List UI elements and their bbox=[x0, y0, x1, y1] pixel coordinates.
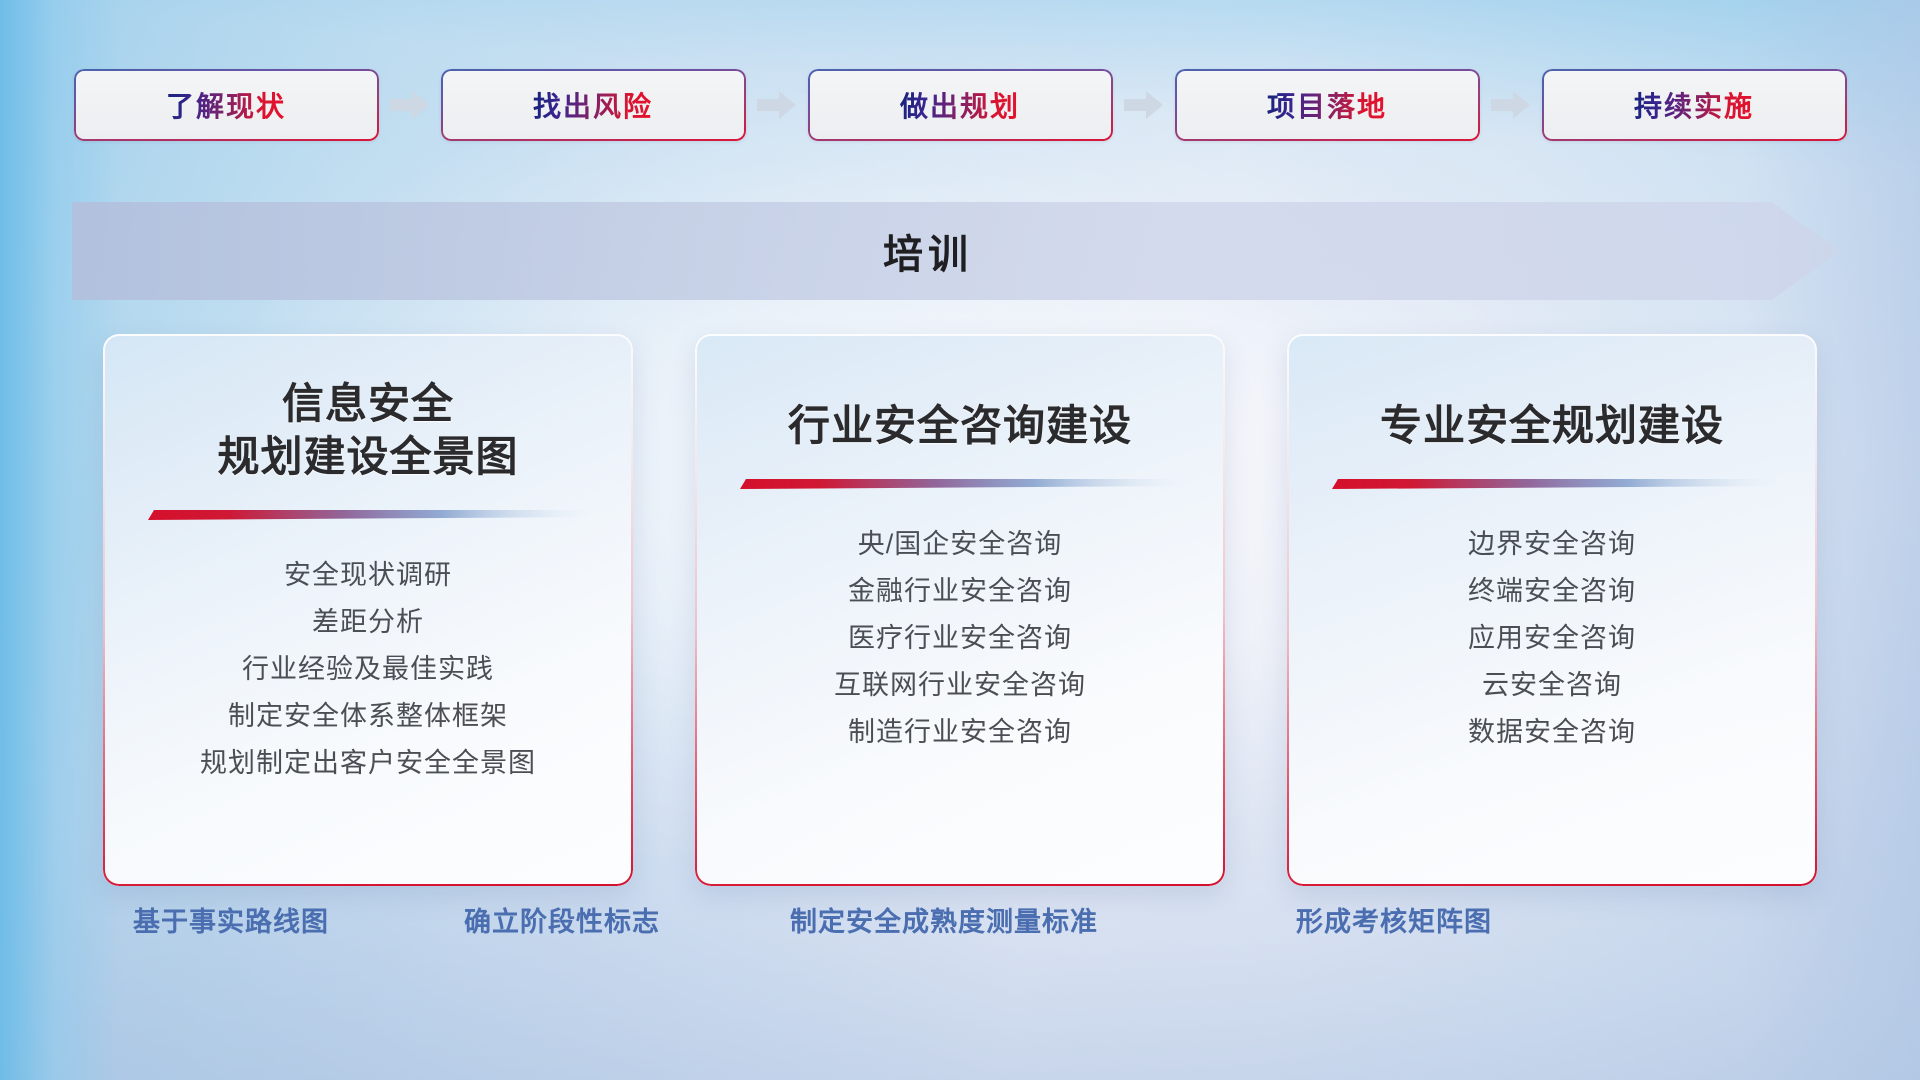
card-2-divider bbox=[734, 475, 1186, 493]
step-label-3: 做出规划 bbox=[900, 85, 1020, 125]
list-item: 互联网行业安全咨询 bbox=[834, 662, 1086, 709]
card-1-divider bbox=[142, 506, 594, 524]
arrow-right-icon bbox=[1113, 69, 1175, 141]
list-item: 制定安全体系整体框架 bbox=[228, 693, 508, 740]
card-1[interactable]: 信息安全 规划建设全景图 安全现状调研 差 bbox=[103, 334, 633, 886]
card-3-title-line-1: 专业安全规划建设 bbox=[1305, 400, 1799, 453]
step-box-4[interactable]: 项目落地 bbox=[1175, 69, 1480, 141]
list-item: 边界安全咨询 bbox=[1468, 521, 1636, 568]
card-1-list: 安全现状调研 差距分析 行业经验及最佳实践 制定安全体系整体框架 规划制定出客户… bbox=[103, 552, 633, 787]
card-1-title-line-1: 信息安全 bbox=[121, 378, 615, 431]
card-2-title: 行业安全咨询建设 bbox=[695, 400, 1225, 453]
process-step-row: 了解现状 找出风险 做出规划 项目落地 持续实施 bbox=[0, 66, 1920, 144]
caption-row: 基于事实路线图 确立阶段性标志 制定安全成熟度测量标准 形成考核矩阵图 bbox=[0, 900, 1920, 970]
step-box-5[interactable]: 持续实施 bbox=[1542, 69, 1847, 141]
list-item: 安全现状调研 bbox=[284, 552, 452, 599]
list-item: 差距分析 bbox=[312, 599, 424, 646]
card-3-title: 专业安全规划建设 bbox=[1287, 400, 1817, 453]
arrow-right-icon bbox=[379, 69, 441, 141]
training-banner: 培训 bbox=[72, 202, 1840, 300]
caption-2: 确立阶段性标志 bbox=[464, 900, 660, 939]
step-label-2: 找出风险 bbox=[533, 85, 653, 125]
list-item: 终端安全咨询 bbox=[1468, 568, 1636, 615]
card-3-list: 边界安全咨询 终端安全咨询 应用安全咨询 云安全咨询 数据安全咨询 bbox=[1287, 521, 1817, 756]
list-item: 云安全咨询 bbox=[1482, 662, 1622, 709]
caption-3: 制定安全成熟度测量标准 bbox=[790, 900, 1098, 939]
list-item: 规划制定出客户安全全景图 bbox=[200, 740, 536, 787]
list-item: 医疗行业安全咨询 bbox=[848, 615, 1072, 662]
card-2-list: 央/国企安全咨询 金融行业安全咨询 医疗行业安全咨询 互联网行业安全咨询 制造行… bbox=[695, 521, 1225, 756]
card-2-title-line-1: 行业安全咨询建设 bbox=[713, 400, 1207, 453]
card-3[interactable]: 专业安全规划建设 边界安全咨询 终端安全咨询 bbox=[1287, 334, 1817, 886]
arrow-right-icon bbox=[746, 69, 808, 141]
caption-1: 基于事实路线图 bbox=[133, 900, 329, 939]
arrow-right-icon bbox=[1480, 69, 1542, 141]
step-label-1: 了解现状 bbox=[166, 85, 286, 125]
card-1-title: 信息安全 规划建设全景图 bbox=[103, 378, 633, 484]
step-box-1[interactable]: 了解现状 bbox=[74, 69, 379, 141]
list-item: 制造行业安全咨询 bbox=[848, 709, 1072, 756]
step-label-5: 持续实施 bbox=[1634, 85, 1754, 125]
step-box-3[interactable]: 做出规划 bbox=[808, 69, 1113, 141]
list-item: 央/国企安全咨询 bbox=[858, 521, 1063, 568]
card-row: 信息安全 规划建设全景图 安全现状调研 差 bbox=[0, 334, 1920, 886]
step-box-2[interactable]: 找出风险 bbox=[441, 69, 746, 141]
caption-4: 形成考核矩阵图 bbox=[1296, 900, 1492, 939]
card-2[interactable]: 行业安全咨询建设 央/国企安全咨询 金融行业安全咨询 bbox=[695, 334, 1225, 886]
banner-title: 培训 bbox=[72, 202, 1840, 300]
list-item: 金融行业安全咨询 bbox=[848, 568, 1072, 615]
card-3-divider bbox=[1326, 475, 1778, 493]
list-item: 数据安全咨询 bbox=[1468, 709, 1636, 756]
list-item: 应用安全咨询 bbox=[1468, 615, 1636, 662]
card-1-title-line-2: 规划建设全景图 bbox=[121, 431, 615, 484]
step-label-4: 项目落地 bbox=[1267, 85, 1387, 125]
list-item: 行业经验及最佳实践 bbox=[242, 646, 494, 693]
